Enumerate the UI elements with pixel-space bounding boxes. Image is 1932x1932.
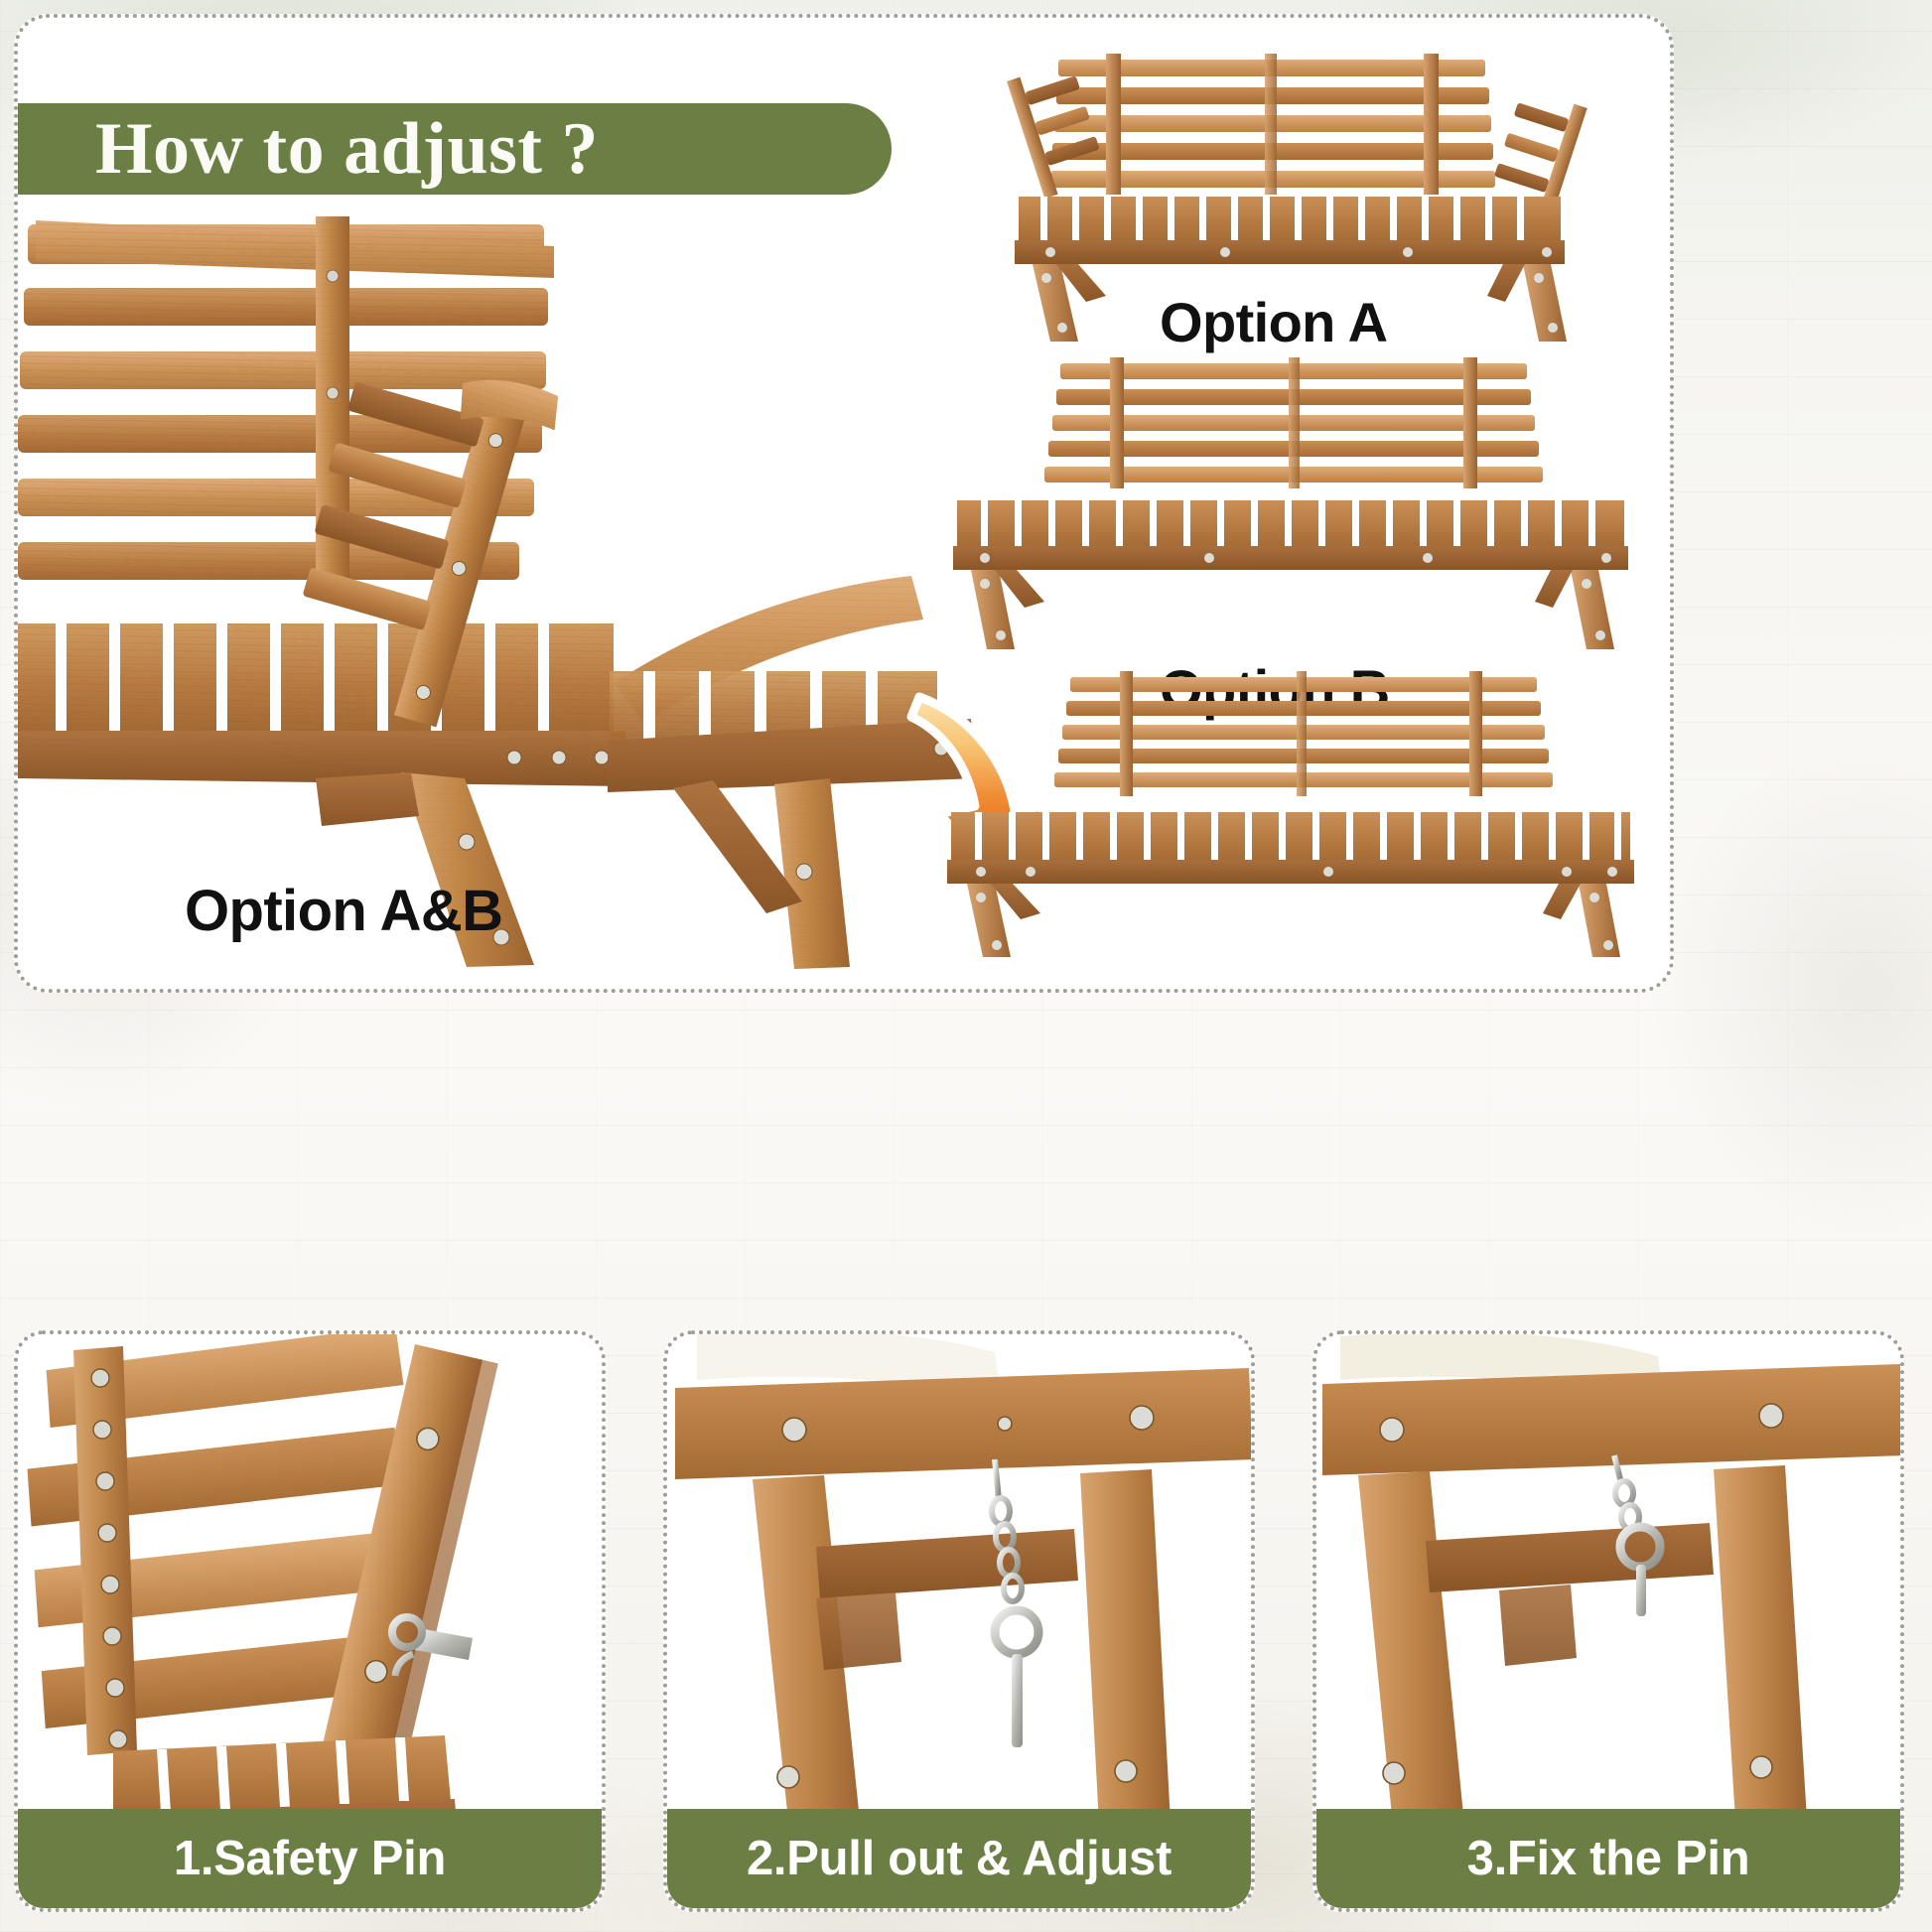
step-card-fix-the-pin: 3.Fix the Pin [1312, 1330, 1904, 1912]
step-2-label: 2.Pull out & Adjust [747, 1831, 1172, 1886]
title-banner: How to adjust ? [18, 103, 892, 195]
step-2-caption-bar: 2.Pull out & Adjust [667, 1809, 1251, 1908]
step-3-caption-bar: 3.Fix the Pin [1316, 1809, 1900, 1908]
option-a-label: Option A [1160, 290, 1388, 354]
bench-option-b-icon [911, 355, 1666, 653]
step-card-safety-pin: 1.Safety Pin [14, 1330, 606, 1912]
page-title: How to adjust ? [95, 112, 599, 186]
step-3-label: 3.Fix the Pin [1467, 1831, 1750, 1886]
bench-illustration-option-b [911, 355, 1606, 653]
bench-option-c-icon [911, 663, 1666, 961]
step-card-pull-out-adjust: 2.Pull out & Adjust [663, 1330, 1255, 1912]
bench-illustration-option-c [911, 663, 1606, 961]
main-instruction-card: How to adjust ? [14, 14, 1674, 993]
step-1-caption-bar: 1.Safety Pin [18, 1809, 602, 1908]
step-1-label: 1.Safety Pin [174, 1831, 446, 1886]
option-ab-label: Option A&B [185, 878, 502, 944]
